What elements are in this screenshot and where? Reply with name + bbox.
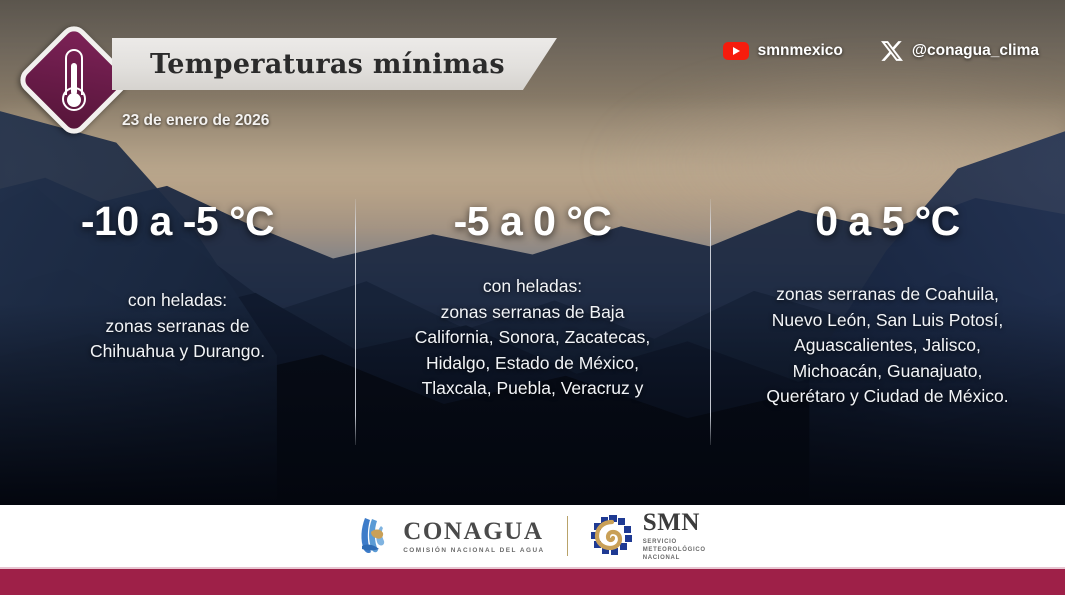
smn-logo: SMN SERVICIO METEOROLÓGICO NACIONAL <box>590 510 706 562</box>
youtube-icon <box>723 42 749 60</box>
temperature-range: 0 a 5 °C <box>815 201 960 242</box>
affected-zones: con heladas: zonas serranas de Baja Cali… <box>415 274 650 402</box>
smn-subtitle: SERVICIO METEOROLÓGICO NACIONAL <box>643 538 706 562</box>
social-youtube[interactable]: smnmexico <box>723 42 843 60</box>
temperature-columns: -10 a -5 °C con heladas: zonas serranas … <box>0 185 1065 450</box>
page-title: Temperaturas mínimas <box>150 49 505 80</box>
thermometer-icon <box>61 49 87 111</box>
thermometer-bulb-fill <box>67 93 81 107</box>
temperature-forecast-poster: Temperaturas mínimas 23 de enero de 2026… <box>0 0 1065 595</box>
temperature-range: -10 a -5 °C <box>81 201 274 242</box>
poster-header: Temperaturas mínimas 23 de enero de 2026… <box>0 0 1065 150</box>
conagua-logo: CONAGUA COMISIÓN NACIONAL DEL AGUA <box>359 516 545 556</box>
temperature-column: 0 a 5 °C zonas serranas de Coahuila, Nue… <box>710 185 1065 450</box>
x-twitter-icon <box>881 40 903 62</box>
affected-zones: zonas serranas de Coahuila, Nuevo León, … <box>766 282 1008 410</box>
thermometer-badge <box>22 20 126 140</box>
conagua-name: CONAGUA <box>403 519 545 544</box>
forecast-date: 23 de enero de 2026 <box>122 112 269 130</box>
poster-footer: CONAGUA COMISIÓN NACIONAL DEL AGUA <box>0 505 1065 567</box>
smn-name: SMN <box>643 510 706 535</box>
temperature-range: -5 a 0 °C <box>454 201 612 242</box>
conagua-emblem-icon <box>359 516 393 556</box>
bottom-accent-bar <box>0 567 1065 595</box>
affected-zones: con heladas: zonas serranas de Chihuahua… <box>90 288 265 365</box>
smn-emblem-icon <box>590 515 634 557</box>
x-handle: @conagua_clima <box>912 42 1039 60</box>
logo-divider <box>567 516 568 556</box>
smn-wordmark: SMN SERVICIO METEOROLÓGICO NACIONAL <box>643 510 706 562</box>
social-handles: smnmexico @conagua_clima <box>723 40 1039 62</box>
social-x[interactable]: @conagua_clima <box>881 40 1039 62</box>
conagua-subtitle: COMISIÓN NACIONAL DEL AGUA <box>403 547 545 554</box>
temperature-column: -10 a -5 °C con heladas: zonas serranas … <box>0 185 355 450</box>
temperature-column: -5 a 0 °C con heladas: zonas serranas de… <box>355 185 710 450</box>
conagua-wordmark: CONAGUA COMISIÓN NACIONAL DEL AGUA <box>403 519 545 554</box>
youtube-handle: smnmexico <box>758 42 843 60</box>
title-banner: Temperaturas mínimas <box>112 38 557 90</box>
